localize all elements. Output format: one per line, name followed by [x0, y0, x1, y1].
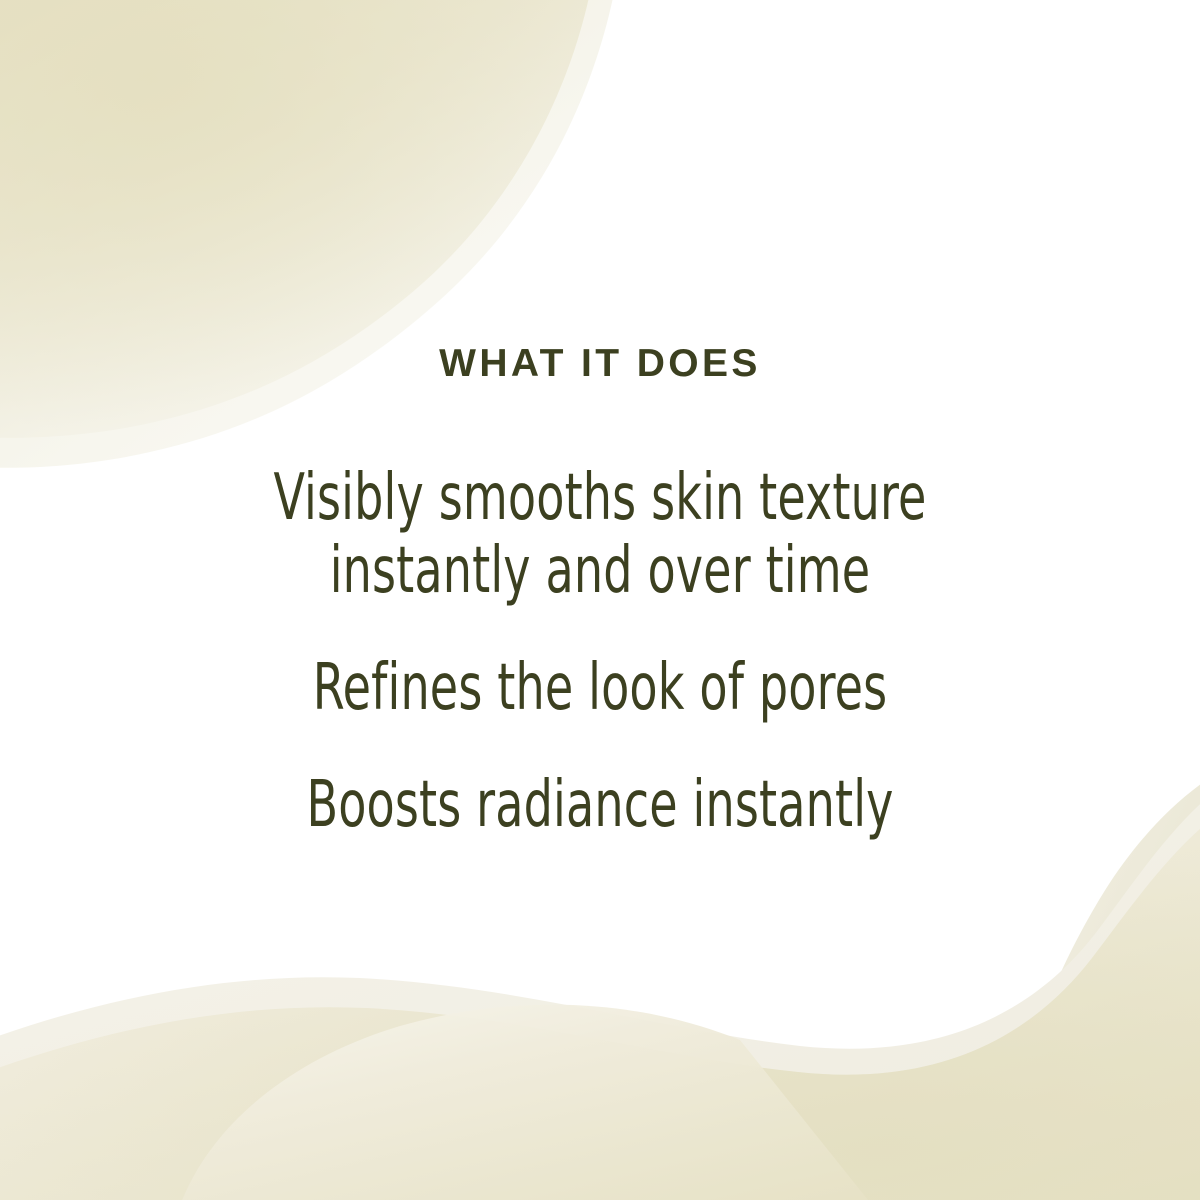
- benefit-list: Visibly smooths skin texture instantly a…: [0, 462, 1200, 842]
- benefit-item-3: Boosts radiance instantly: [120, 769, 1080, 842]
- benefit-item-2: Refines the look of pores: [120, 652, 1080, 725]
- copy-block: WHAT IT DOES Visibly smooths skin textur…: [0, 0, 1200, 1200]
- marketing-panel: WHAT IT DOES Visibly smooths skin textur…: [0, 0, 1200, 1200]
- benefit-item-1: Visibly smooths skin texture instantly a…: [120, 462, 1080, 608]
- page-title: WHAT IT DOES: [0, 341, 1200, 387]
